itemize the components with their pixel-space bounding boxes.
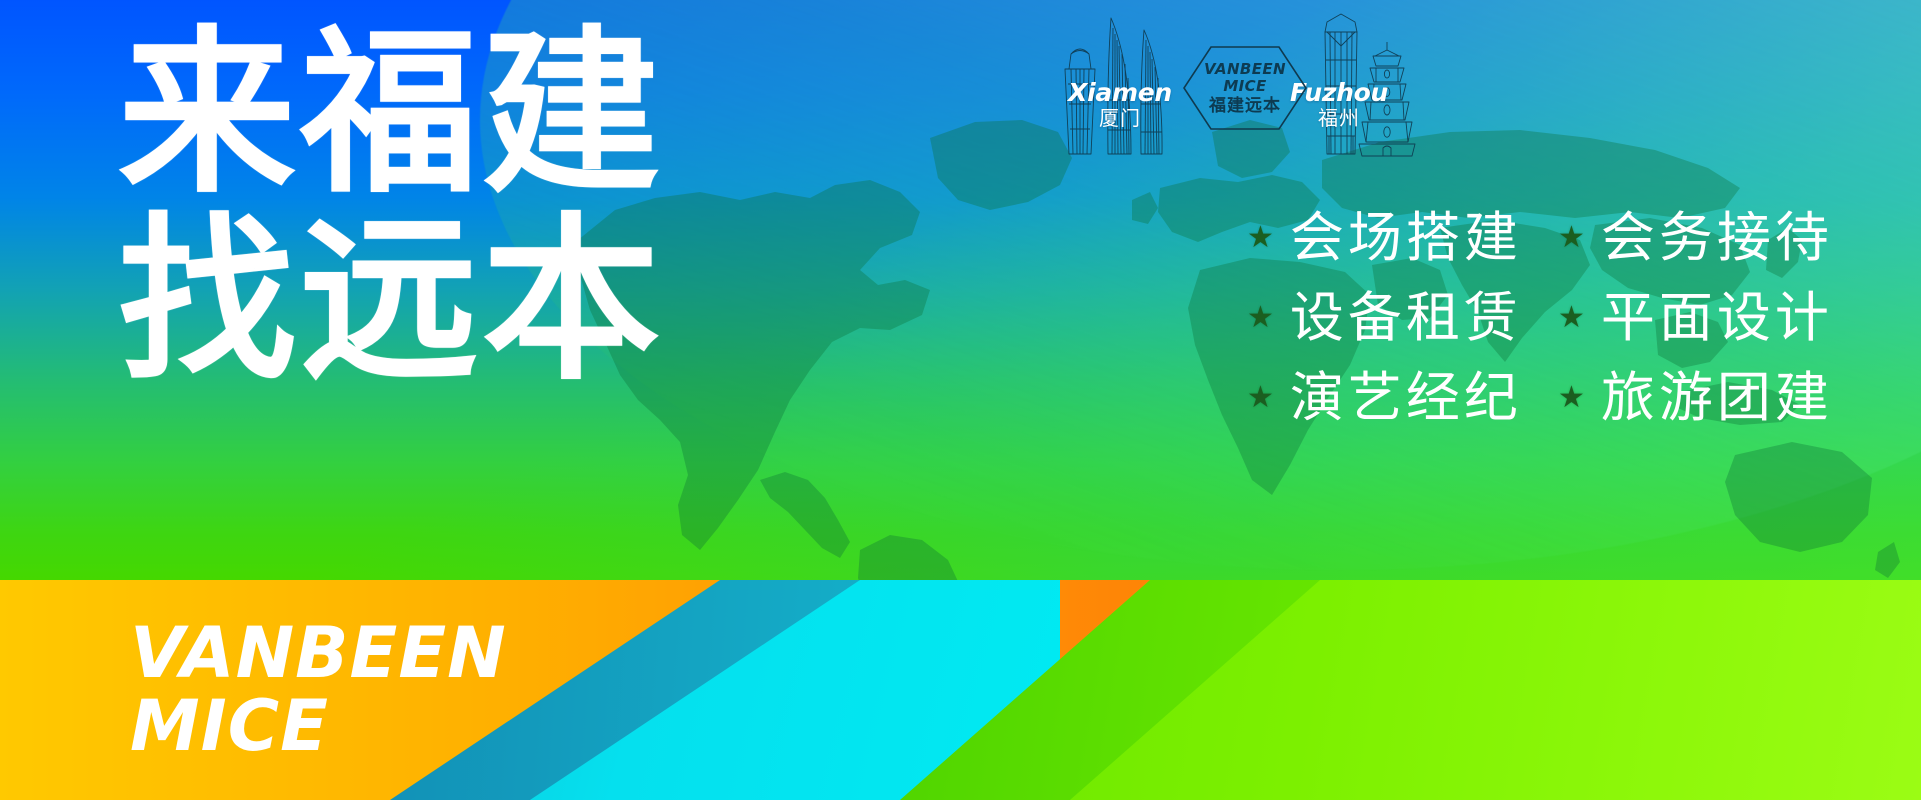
hex-badge-cn: 福建远本 (1209, 98, 1281, 115)
star-icon: ★ (1247, 303, 1274, 333)
star-icon: ★ (1558, 383, 1585, 413)
service-item: ★ 平面设计 (1558, 285, 1869, 351)
service-label: 演艺经纪 (1290, 365, 1522, 431)
service-item: ★ 演艺经纪 (1247, 365, 1558, 431)
star-icon: ★ (1558, 303, 1585, 333)
service-item: ★ 设备租赁 (1247, 285, 1558, 351)
service-label: 会务接待 (1601, 205, 1833, 271)
hexagon-badge-icon: VANBEEN MICE 福建远本 (1181, 44, 1309, 132)
star-icon: ★ (1247, 383, 1274, 413)
service-item: ★ 旅游团建 (1558, 365, 1869, 431)
promo-banner: 来福建 找远本 ★ 会场搭建 ★ 会务接待 ★ 设备租赁 (0, 0, 1921, 800)
service-row: ★ 会场搭建 ★ 会务接待 (1247, 205, 1869, 271)
city-landmark-group: Xiamen 厦门 Fuzhou 福州 VANBEEN MICE 福建远本 (1055, 4, 1435, 164)
headline-line-1: 来福建 (118, 28, 738, 201)
city-xiamen-cn: 厦门 (1060, 108, 1180, 128)
headline-line-2: 找远本 (118, 215, 738, 388)
service-row: ★ 设备租赁 ★ 平面设计 (1247, 285, 1869, 351)
service-label: 旅游团建 (1601, 365, 1833, 431)
star-icon: ★ (1558, 223, 1585, 253)
bottom-bar: VANBEEN MICE (0, 580, 1921, 800)
hex-badge-en-line2: MICE (1223, 79, 1266, 94)
service-item: ★ 会务接待 (1558, 205, 1869, 271)
brand-line-vanbeen: VANBEEN (130, 618, 507, 689)
main-panel: 来福建 找远本 ★ 会场搭建 ★ 会务接待 ★ 设备租赁 (0, 0, 1921, 580)
service-item: ★ 会场搭建 (1247, 205, 1558, 271)
service-list: ★ 会场搭建 ★ 会务接待 ★ 设备租赁 ★ 平面设计 (1247, 205, 1869, 431)
service-label: 设备租赁 (1290, 285, 1522, 351)
brand-line-mice: MICE (130, 691, 507, 762)
city-xiamen-en: Xiamen (1060, 80, 1180, 105)
star-icon: ★ (1247, 223, 1274, 253)
city-xiamen: Xiamen 厦门 (1060, 80, 1180, 128)
service-row: ★ 演艺经纪 ★ 旅游团建 (1247, 365, 1869, 431)
brand-logotype: VANBEEN MICE (130, 618, 507, 763)
hex-badge-en-line1: VANBEEN (1204, 62, 1286, 77)
service-label: 会场搭建 (1290, 205, 1522, 271)
hexagon-badge-text: VANBEEN MICE 福建远本 (1181, 44, 1309, 132)
headline: 来福建 找远本 (118, 28, 738, 387)
service-label: 平面设计 (1601, 285, 1833, 351)
